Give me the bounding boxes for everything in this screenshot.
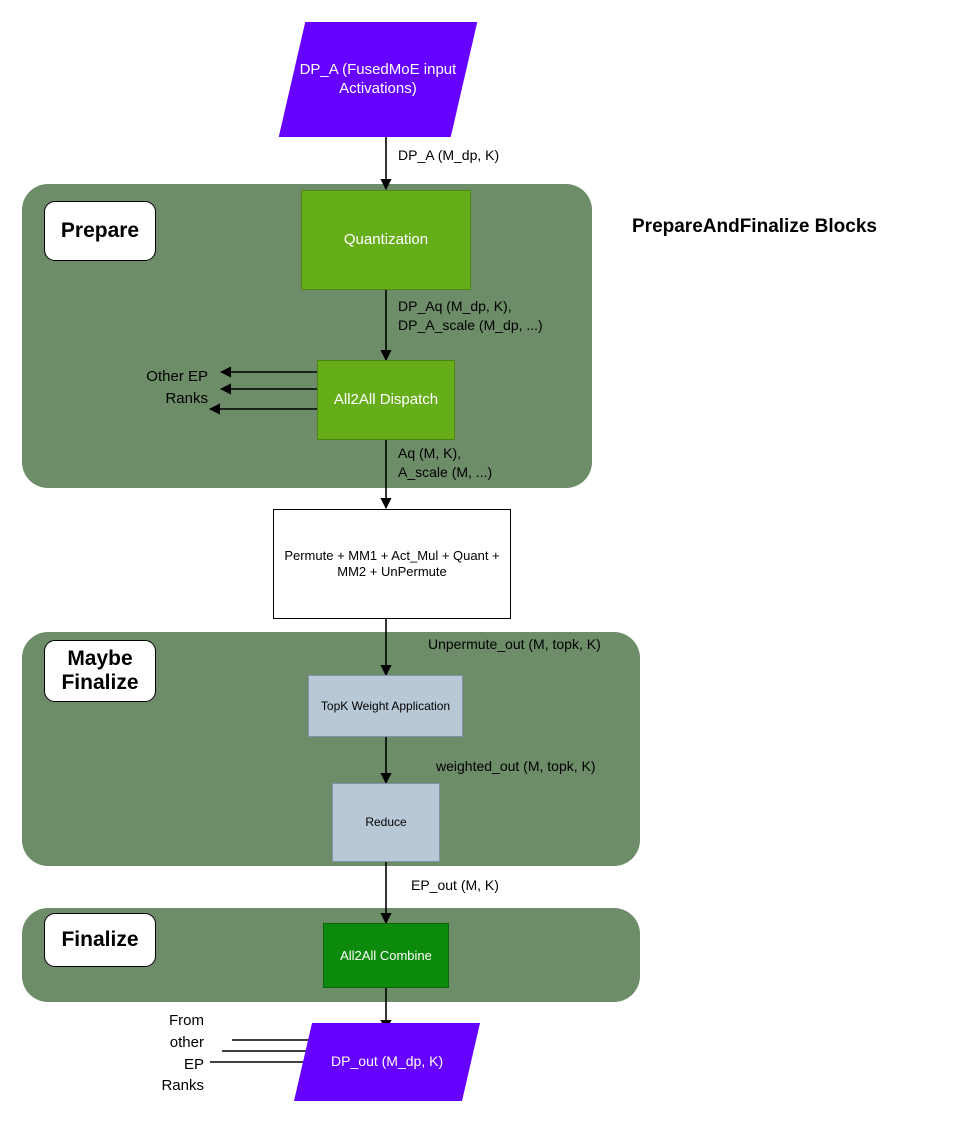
edge-label-aq: Aq (M, K), A_scale (M, ...) [398,444,492,482]
label-from-other-ep-ranks: From other EP Ranks [132,1010,204,1097]
group-label-maybe-finalize: Maybe Finalize [44,640,156,702]
node-all2all-combine[interactable]: All2All Combine [323,923,449,988]
node-dp-out-label: DP_out (M_dp, K) [331,1053,443,1071]
node-topk-weight-application[interactable]: TopK Weight Application [308,675,463,737]
label-other-ep-ranks: Other EP Ranks [130,366,208,410]
edge-label-dp-a: DP_A (M_dp, K) [398,146,499,165]
node-experts[interactable]: Permute + MM1 + Act_Mul + Quant + MM2 + … [273,509,511,619]
node-all2all-combine-label: All2All Combine [340,948,432,964]
node-topk-weight-application-label: TopK Weight Application [321,699,450,714]
group-label-prepare: Prepare [44,201,156,261]
node-quantization[interactable]: Quantization [301,190,471,290]
diagram-title: PrepareAndFinalize Blocks [632,216,877,238]
node-dp-a-input-label: DP_A (FusedMoE input Activations) [292,61,464,99]
node-reduce[interactable]: Reduce [332,783,440,862]
node-dp-a-input[interactable]: DP_A (FusedMoE input Activations) [279,22,478,137]
node-dp-out[interactable]: DP_out (M_dp, K) [294,1023,480,1101]
edge-label-weighted-out: weighted_out (M, topk, K) [436,757,596,776]
node-reduce-label: Reduce [365,815,406,830]
edge-label-dp-aq: DP_Aq (M_dp, K), DP_A_scale (M_dp, ...) [398,297,543,335]
edge-label-unpermute-out: Unpermute_out (M, topk, K) [428,635,601,654]
node-all2all-dispatch-label: All2All Dispatch [334,391,438,409]
node-experts-label: Permute + MM1 + Act_Mul + Quant + MM2 + … [284,548,499,580]
edge-label-ep-out: EP_out (M, K) [411,876,499,895]
node-all2all-dispatch[interactable]: All2All Dispatch [317,360,455,440]
diagram-canvas: Prepare Maybe Finalize Finalize DP_A (Fu… [0,0,971,1121]
group-label-finalize: Finalize [44,913,156,967]
node-quantization-label: Quantization [344,231,428,249]
